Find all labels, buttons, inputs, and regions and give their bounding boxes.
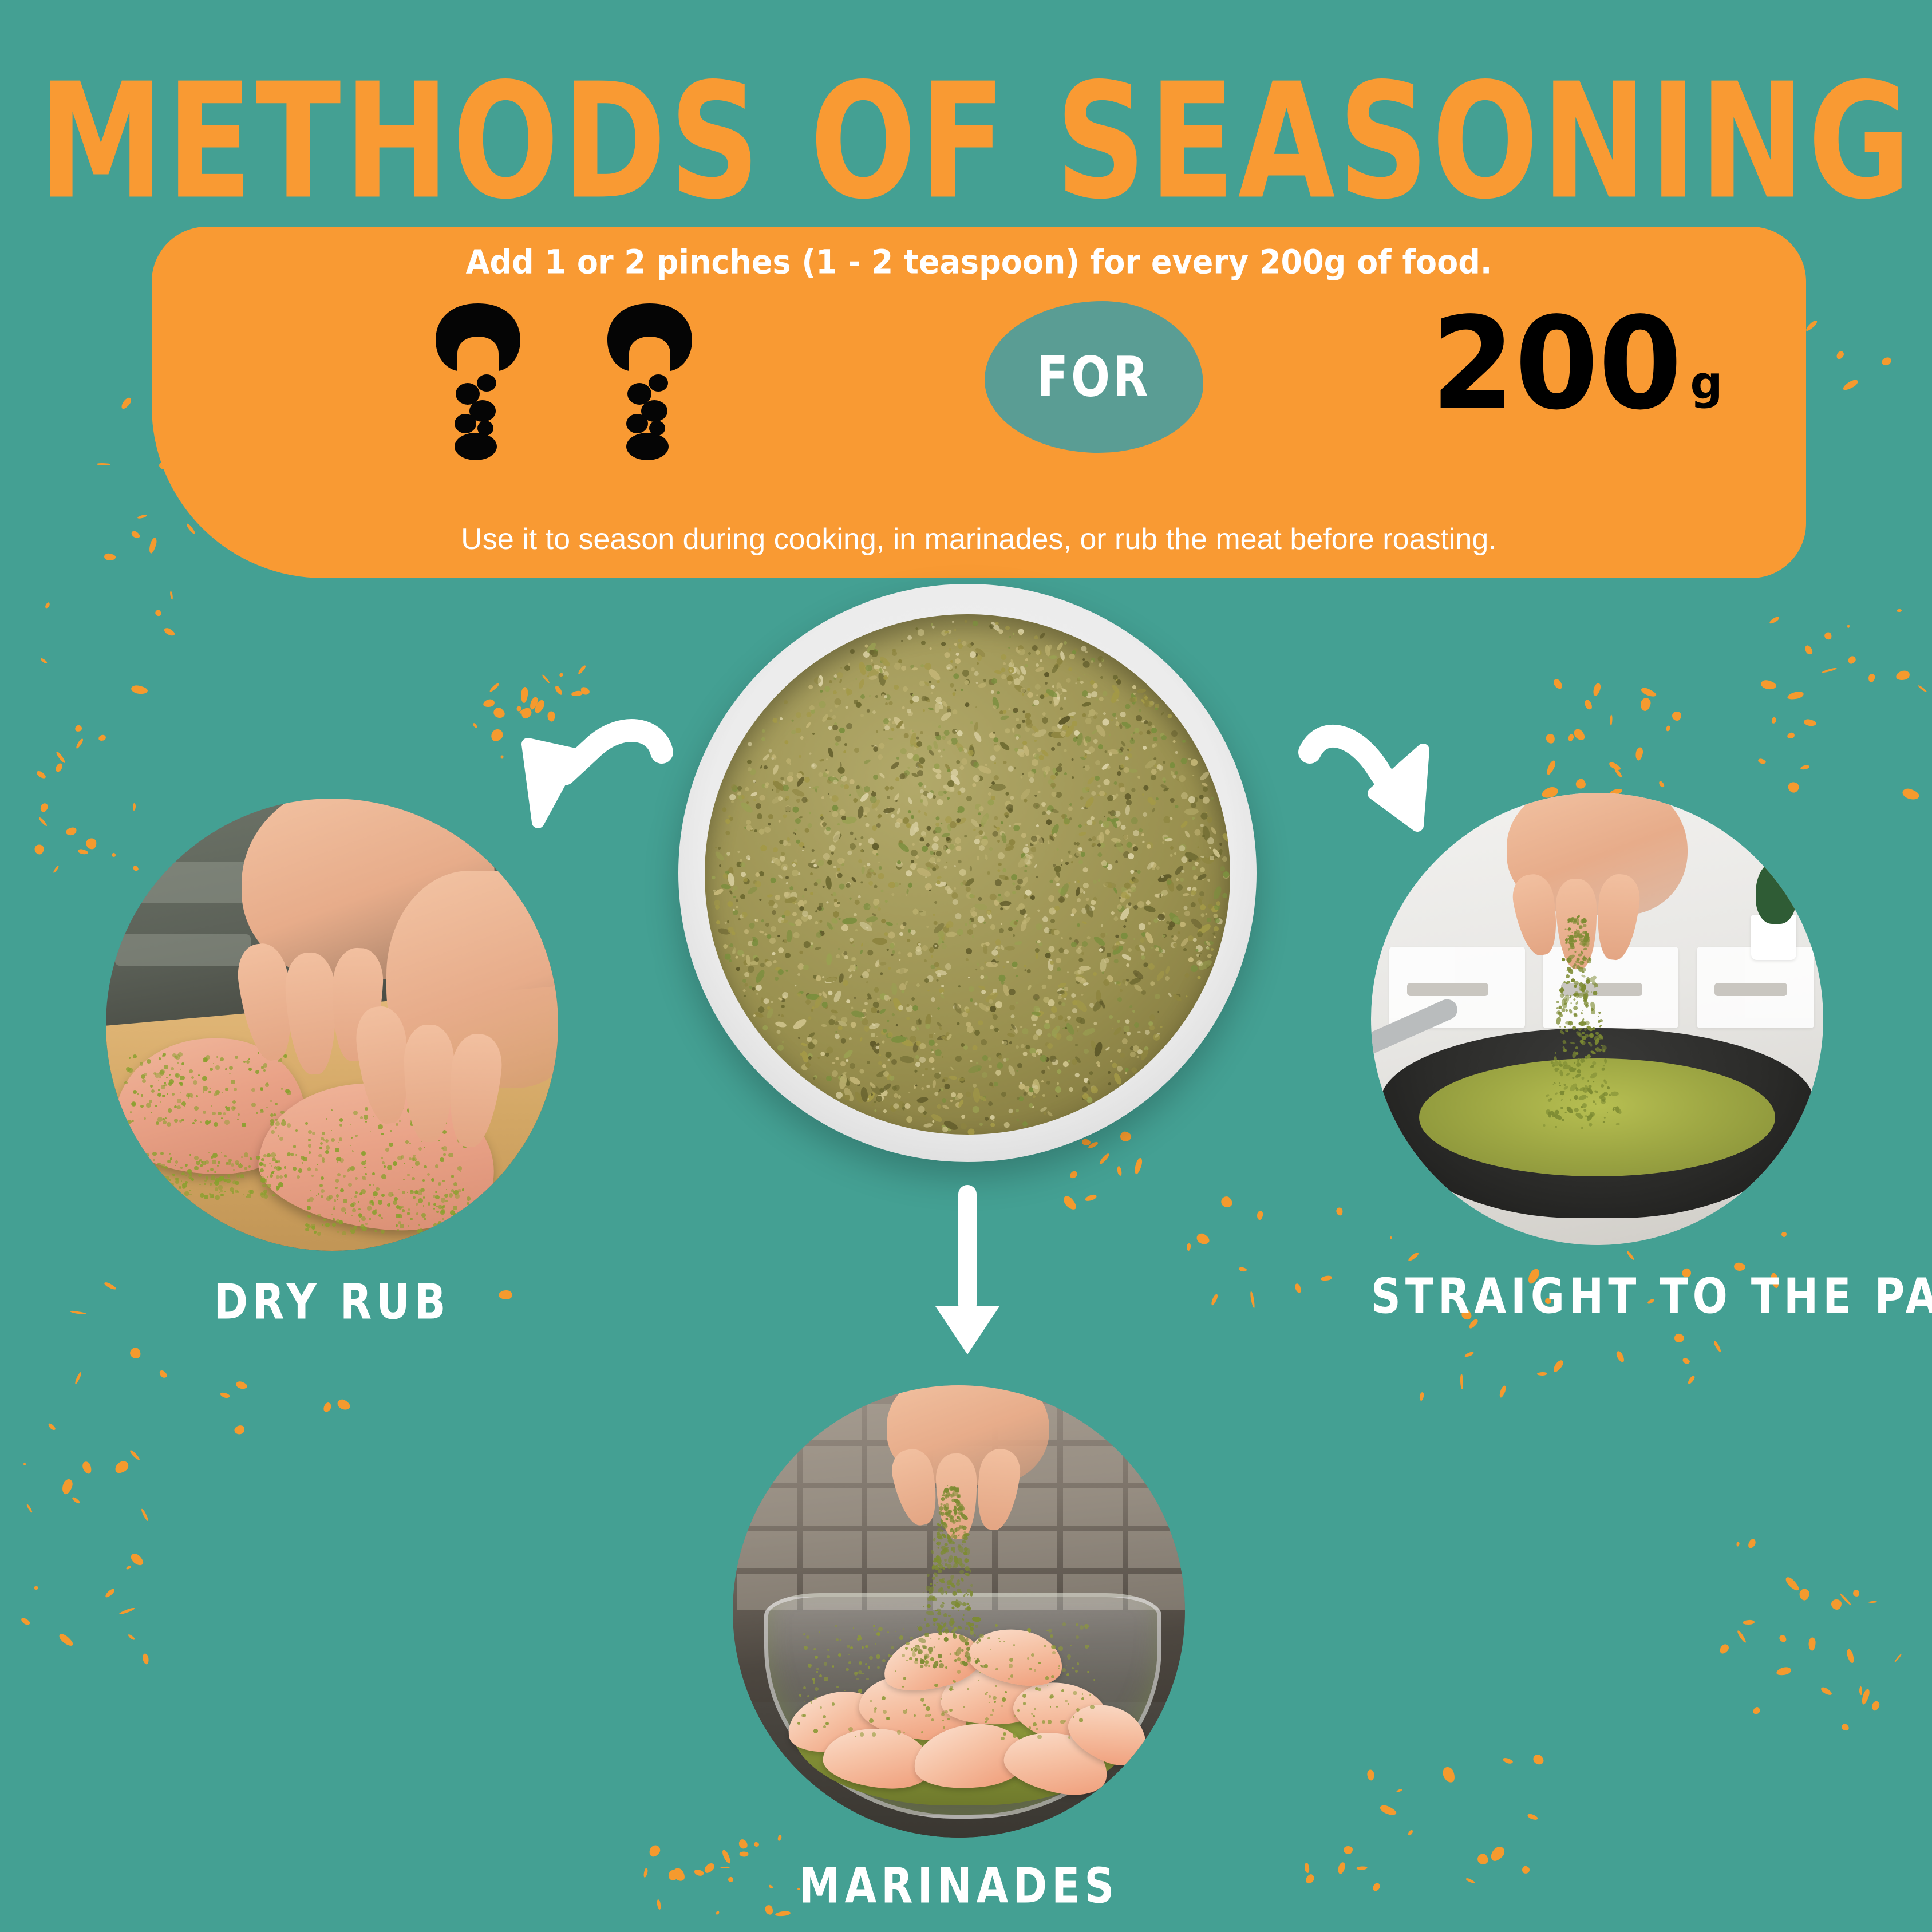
marinades-label: MARINADES <box>733 1857 1185 1914</box>
pinch-icon-group <box>432 301 696 461</box>
dry-rub-label: DRY RUB <box>106 1273 558 1330</box>
infographic-canvas: METHODS OF SEASONING Add 1 or 2 pinches … <box>0 0 1932 1932</box>
seasoning-powder <box>705 614 1230 1135</box>
straight-arrow-down-icon <box>927 1185 1008 1360</box>
potted-plant <box>1756 861 1796 924</box>
instruction-panel: Add 1 or 2 pinches (1 - 2 teaspoon) for … <box>152 227 1806 578</box>
pinch-icon <box>432 301 524 461</box>
seasoning-bowl-photo <box>678 584 1257 1162</box>
straight-to-the-pan-photo <box>1371 793 1823 1245</box>
for-badge: FOR <box>985 301 1203 453</box>
page-title: METHODS OF SEASONING <box>39 62 1894 221</box>
marinades-photo <box>733 1385 1185 1838</box>
panel-instruction-bottom: Use it to season during cooking, in mari… <box>152 522 1806 556</box>
for-badge-label: FOR <box>1037 345 1151 409</box>
weight-unit: g <box>1690 360 1722 406</box>
panel-instruction-top: Add 1 or 2 pinches (1 - 2 teaspoon) for … <box>152 242 1806 281</box>
dry-rub-photo <box>106 799 558 1251</box>
straight-to-the-pan-label: STRAIGHT TO THE PAN <box>1371 1267 1823 1324</box>
pan-sauce <box>1419 1058 1775 1176</box>
weight-readout: 200 g <box>1431 313 1723 416</box>
pinch-icon <box>604 301 696 461</box>
weight-value: 200 <box>1431 310 1682 419</box>
